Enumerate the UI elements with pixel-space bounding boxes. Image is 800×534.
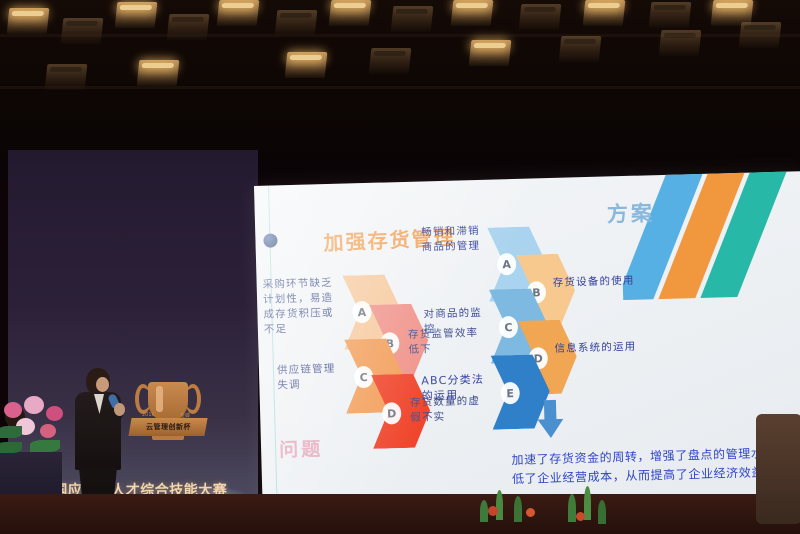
stage-light-icon: [659, 30, 702, 56]
stage-light-icon: [329, 0, 372, 26]
stage-light-icon: [649, 2, 692, 28]
problem-text-c: 供应链管理失调: [277, 362, 344, 394]
projection-screen-slide: 加强存货管理 方案 问题 A 采购环节缺乏计划性，易造成存货积压或不足 B 存货…: [254, 171, 800, 508]
stage-light-icon: [275, 10, 318, 36]
stage-light-icon: [167, 14, 210, 40]
stage-light-icon: [451, 0, 494, 26]
stage-light-icon: [369, 48, 412, 74]
slide-accent-dot: [263, 233, 277, 247]
down-arrow-icon: [537, 400, 564, 441]
problem-text-a: 采购环节缺乏计划性，易造成存货积压或不足: [262, 276, 342, 338]
stage-light-icon: [583, 0, 626, 26]
stage-light-icon: [285, 52, 328, 78]
stage-light-icon: [739, 22, 782, 48]
solution-text-c: 对商品的监控: [423, 306, 484, 338]
foreground-plant: [470, 482, 560, 534]
section-tag-plan: 方案: [606, 197, 655, 228]
stage-light-icon: [391, 6, 434, 32]
stage-light-icon: [217, 0, 260, 26]
stage-light-icon: [469, 40, 512, 66]
stage-light-icon: [559, 36, 602, 62]
flower-arrangement: [0, 392, 80, 464]
stage-light-icon: [115, 2, 158, 28]
stage-light-icon: [7, 8, 50, 34]
section-tag-problem: 问题: [279, 434, 324, 462]
solution-text-b: 存货设备的使用: [553, 273, 653, 291]
stage-light-icon: [519, 4, 562, 30]
solution-text-e: ABC分类法的运用: [421, 372, 488, 404]
logo-ribbon-text: 云管理创新杯: [146, 422, 191, 432]
truss-bar-bottom: [0, 86, 800, 89]
stage-light-icon: [137, 60, 180, 86]
stage-light-icon: [45, 64, 88, 90]
stage-light-icon: [61, 18, 104, 44]
stage-floor: [0, 494, 800, 534]
foreground-column: [756, 414, 800, 524]
solution-text-a: 畅销和滞销商品的管理: [421, 224, 482, 256]
logo-ribbon: 云管理创新杯: [128, 418, 207, 436]
auditorium-stage-scene: 2016 金蝶 云管理创新杯 全国应用型人才综合技能大赛 2016金蝶云管理创新…: [0, 0, 800, 534]
trophy-logo-icon: 2016 金蝶 云管理创新杯: [126, 378, 210, 464]
foreground-plant: [560, 482, 650, 534]
solution-text-d: 信息系统的运用: [554, 339, 654, 357]
